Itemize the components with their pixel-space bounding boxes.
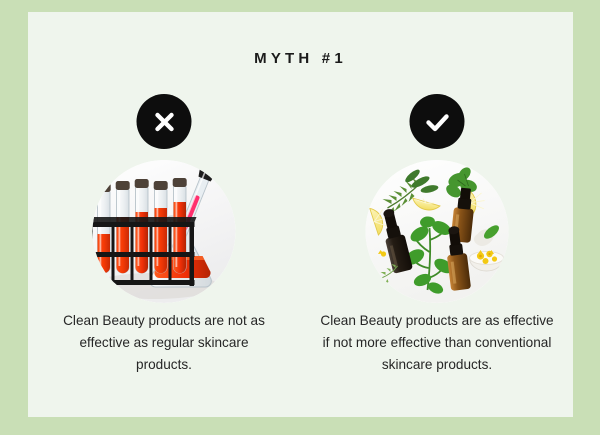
myth-caption: Clean Beauty products are not as effecti… bbox=[50, 310, 278, 376]
myth-column: Clean Beauty products are not as effecti… bbox=[28, 82, 300, 412]
check-icon bbox=[410, 94, 465, 149]
lab-test-tubes-photo bbox=[93, 160, 236, 303]
fact-caption: Clean Beauty products are as effective i… bbox=[319, 310, 555, 376]
natural-oils-herbs-photo bbox=[366, 160, 509, 303]
cross-icon bbox=[137, 94, 192, 149]
fact-column: Clean Beauty products are as effective i… bbox=[301, 82, 573, 412]
myth-fact-poster: MYTH #1 bbox=[0, 0, 600, 435]
page-title: MYTH #1 bbox=[28, 50, 573, 67]
poster-panel: MYTH #1 bbox=[28, 12, 573, 417]
